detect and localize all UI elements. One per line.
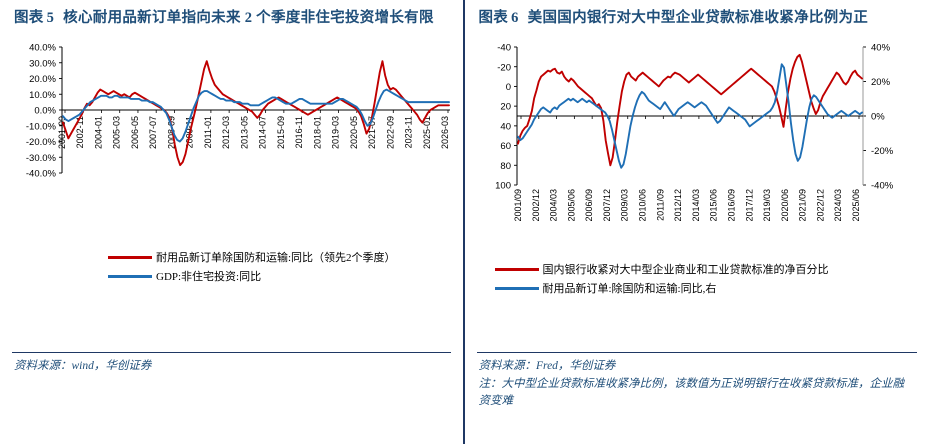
svg-text:2005/06: 2005/06 (566, 189, 576, 222)
svg-text:40%: 40% (871, 43, 891, 54)
svg-text:60: 60 (500, 141, 511, 152)
svg-text:2026-03: 2026-03 (440, 116, 450, 149)
svg-text:0: 0 (505, 82, 510, 93)
svg-text:2009/03: 2009/03 (619, 189, 629, 222)
svg-text:2023-11: 2023-11 (404, 116, 414, 148)
svg-text:-40.0%: -40.0% (26, 169, 57, 180)
svg-text:2007/12: 2007/12 (601, 189, 611, 222)
svg-text:2019-03: 2019-03 (331, 116, 341, 149)
chart-left-wrap: 40.0%30.0%20.0%10.0%0.0%-10.0%-20.0%-30.… (6, 33, 457, 243)
svg-text:-20: -20 (497, 62, 511, 73)
svg-text:-30.0%: -30.0% (26, 153, 57, 164)
svg-text:2024/03: 2024/03 (833, 189, 843, 222)
two-exhibit-page: 图表5核心耐用品新订单指向未来 2 个季度非住宅投资增长有限 40.0%30.0… (0, 0, 929, 444)
source-note-right: 资料来源：Fred，华创证券 (465, 353, 929, 375)
svg-text:100: 100 (495, 181, 511, 192)
svg-text:2020/06: 2020/06 (779, 189, 789, 222)
legend-item: GDP:非住宅投资:同比 (108, 268, 463, 284)
svg-text:2025/06: 2025/06 (851, 189, 861, 222)
legend-swatch-red (495, 268, 539, 271)
svg-text:20: 20 (500, 102, 511, 113)
legend-label: 耐用品新订单:除国防和运输:同比,右 (543, 280, 717, 296)
legend-label: 耐用品新订单除国防和运输:同比（领先2个季度） (156, 249, 396, 265)
svg-text:2022/12: 2022/12 (815, 189, 825, 222)
svg-text:2002-11: 2002-11 (75, 116, 85, 148)
svg-text:-20%: -20% (871, 146, 894, 157)
svg-text:2012-03: 2012-03 (221, 116, 231, 149)
svg-text:-40%: -40% (871, 181, 894, 192)
svg-text:-20.0%: -20.0% (26, 137, 57, 148)
legend-item: 耐用品新订单除国防和运输:同比（领先2个季度） (108, 249, 463, 265)
svg-text:2014/03: 2014/03 (690, 189, 700, 222)
svg-text:2015/06: 2015/06 (708, 189, 718, 222)
svg-text:2013-05: 2013-05 (239, 116, 249, 149)
methodology-note-right: 注：大中型企业贷款标准收紧净比例，该数值为正说明银行在收紧贷款标准，企业融资变难 (465, 375, 929, 410)
svg-text:2004-01: 2004-01 (94, 116, 104, 149)
svg-text:2016/09: 2016/09 (726, 189, 736, 222)
legend-item: 国内银行收紧对大中型企业商业和工业贷款标准的净百分比 (495, 261, 929, 277)
svg-text:2002/12: 2002/12 (530, 189, 540, 222)
legend-swatch-blue (108, 275, 152, 278)
legend-item: 耐用品新订单:除国防和运输:同比,右 (495, 280, 929, 296)
exhibit-number: 6 (511, 10, 519, 26)
svg-text:2014-07: 2014-07 (258, 116, 268, 149)
exhibit-5-title: 图表5核心耐用品新订单指向未来 2 个季度非住宅投资增长有限 (0, 0, 463, 29)
svg-text:2005-03: 2005-03 (112, 116, 122, 149)
exhibit-6-title: 图表6美国国内银行对大中型企业贷款标准收紧净比例为正 (465, 0, 929, 29)
svg-text:2011/09: 2011/09 (655, 189, 665, 221)
svg-text:-10.0%: -10.0% (26, 121, 57, 132)
exhibit-label: 图表 (479, 10, 509, 26)
svg-text:80: 80 (500, 161, 511, 172)
svg-text:2011-01: 2011-01 (203, 116, 213, 148)
svg-text:-40: -40 (497, 43, 511, 54)
chart-right-wrap: -40-2002040608010040%20%0%-20%-40%2001/0… (471, 33, 924, 255)
svg-text:2007-07: 2007-07 (148, 116, 158, 149)
svg-text:2012/12: 2012/12 (673, 189, 683, 222)
svg-text:2006-05: 2006-05 (130, 116, 140, 149)
svg-text:20.0%: 20.0% (29, 74, 56, 85)
svg-text:2021/09: 2021/09 (797, 189, 807, 222)
legend-label: GDP:非住宅投资:同比 (156, 268, 261, 284)
exhibit-label: 图表 (14, 10, 44, 26)
chart-left-footer: 资料来源：wind，华创证券 (0, 352, 463, 375)
legend-swatch-red (108, 256, 152, 259)
source-note-left: 资料来源：wind，华创证券 (0, 353, 463, 375)
svg-text:2001/09: 2001/09 (513, 189, 523, 222)
svg-text:2017/12: 2017/12 (744, 189, 754, 222)
svg-text:20%: 20% (871, 77, 891, 88)
chart-right-legend: 国内银行收紧对大中型企业商业和工业贷款标准的净百分比 耐用品新订单:除国防和运输… (465, 261, 929, 296)
exhibit-title-text: 美国国内银行对大中型企业贷款标准收紧净比例为正 (528, 10, 868, 26)
chart-left-legend: 耐用品新订单除国防和运输:同比（领先2个季度） GDP:非住宅投资:同比 (0, 249, 463, 284)
svg-text:2022-09: 2022-09 (385, 116, 395, 149)
svg-text:0%: 0% (871, 112, 885, 123)
exhibit-panel-right: 图表6美国国内银行对大中型企业贷款标准收紧净比例为正 -40-200204060… (465, 0, 929, 444)
svg-text:0.0%: 0.0% (34, 106, 56, 117)
chart-left: 40.0%30.0%20.0%10.0%0.0%-10.0%-20.0%-30.… (6, 33, 458, 238)
svg-text:40.0%: 40.0% (29, 43, 56, 54)
svg-text:2004/03: 2004/03 (548, 189, 558, 222)
svg-text:2010/06: 2010/06 (637, 189, 647, 222)
chart-right: -40-2002040608010040%20%0%-20%-40%2001/0… (471, 33, 923, 251)
svg-text:2020-05: 2020-05 (349, 116, 359, 149)
svg-text:2006/09: 2006/09 (584, 189, 594, 222)
exhibit-panel-left: 图表5核心耐用品新订单指向未来 2 个季度非住宅投资增长有限 40.0%30.0… (0, 0, 465, 444)
svg-text:10.0%: 10.0% (29, 90, 56, 101)
chart-right-footer: 资料来源：Fred，华创证券 注：大中型企业贷款标准收紧净比例，该数值为正说明银… (465, 352, 929, 410)
svg-text:2019/03: 2019/03 (762, 189, 772, 222)
svg-text:2015-09: 2015-09 (276, 116, 286, 149)
svg-text:30.0%: 30.0% (29, 58, 56, 69)
svg-text:2016-11: 2016-11 (294, 116, 304, 148)
legend-label: 国内银行收紧对大中型企业商业和工业贷款标准的净百分比 (543, 261, 829, 277)
exhibit-number: 5 (47, 10, 55, 26)
legend-swatch-blue (495, 287, 539, 290)
svg-text:40: 40 (500, 121, 511, 132)
svg-text:2018-01: 2018-01 (312, 116, 322, 149)
exhibit-title-text: 核心耐用品新订单指向未来 2 个季度非住宅投资增长有限 (63, 10, 434, 26)
